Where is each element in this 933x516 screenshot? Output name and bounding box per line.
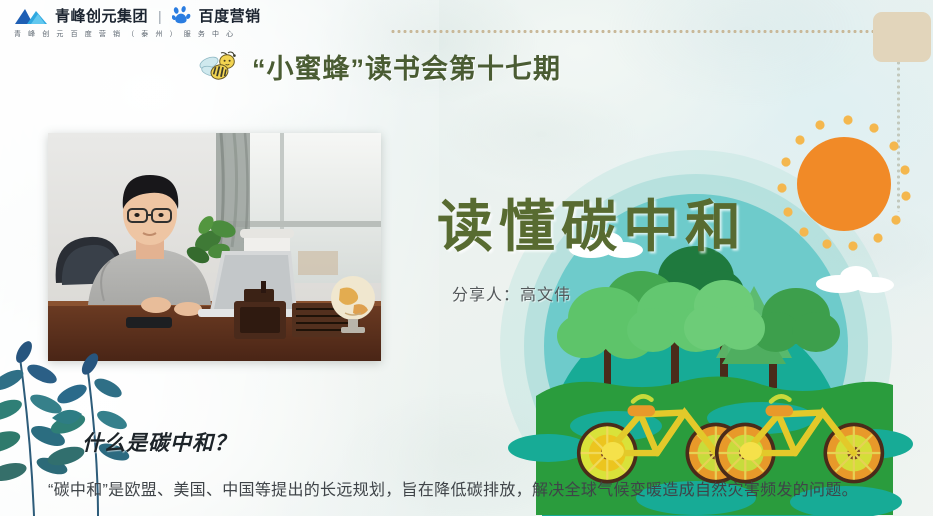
beige-square-decoration	[873, 12, 931, 62]
logo-divider: |	[158, 8, 162, 24]
meeting-title-group: “小蜜蜂”读书会第十七期	[196, 47, 561, 86]
baidu-bear-paw-icon	[172, 6, 192, 25]
bee-icon	[196, 50, 240, 84]
carbon-neutral-illustration	[496, 96, 933, 516]
slide-canvas: 青峰创元集团 | 百度营销 青 峰 创 元 百 度 营 销 （ 泰 州 ） 服 …	[0, 0, 933, 516]
logo-subtitle: 青 峰 创 元 百 度 营 销 （ 泰 州 ） 服 务 中 心	[14, 29, 261, 39]
brand-logo-bar: 青峰创元集团 | 百度营销 青 峰 创 元 百 度 营 销 （ 泰 州 ） 服 …	[14, 5, 261, 39]
section-heading: 什么是碳中和？	[82, 427, 236, 457]
presenter-label: 分享人：高文伟	[452, 281, 571, 305]
page-title: 读懂碳中和	[437, 182, 747, 263]
section-body-text: “碳中和”是欧盟、美国、中国等提出的长远规划，旨在降低碳排放，解决全球气候变暖造…	[48, 476, 928, 500]
horizontal-dotted-line	[390, 30, 890, 33]
meeting-title-text: “小蜜蜂”读书会第十七期	[252, 47, 561, 86]
logo-partner-name: 百度营销	[199, 5, 261, 26]
mountain-peak-icon	[14, 6, 48, 26]
logo-company-name: 青峰创元集团	[55, 5, 148, 26]
presenter-photo	[48, 133, 381, 361]
